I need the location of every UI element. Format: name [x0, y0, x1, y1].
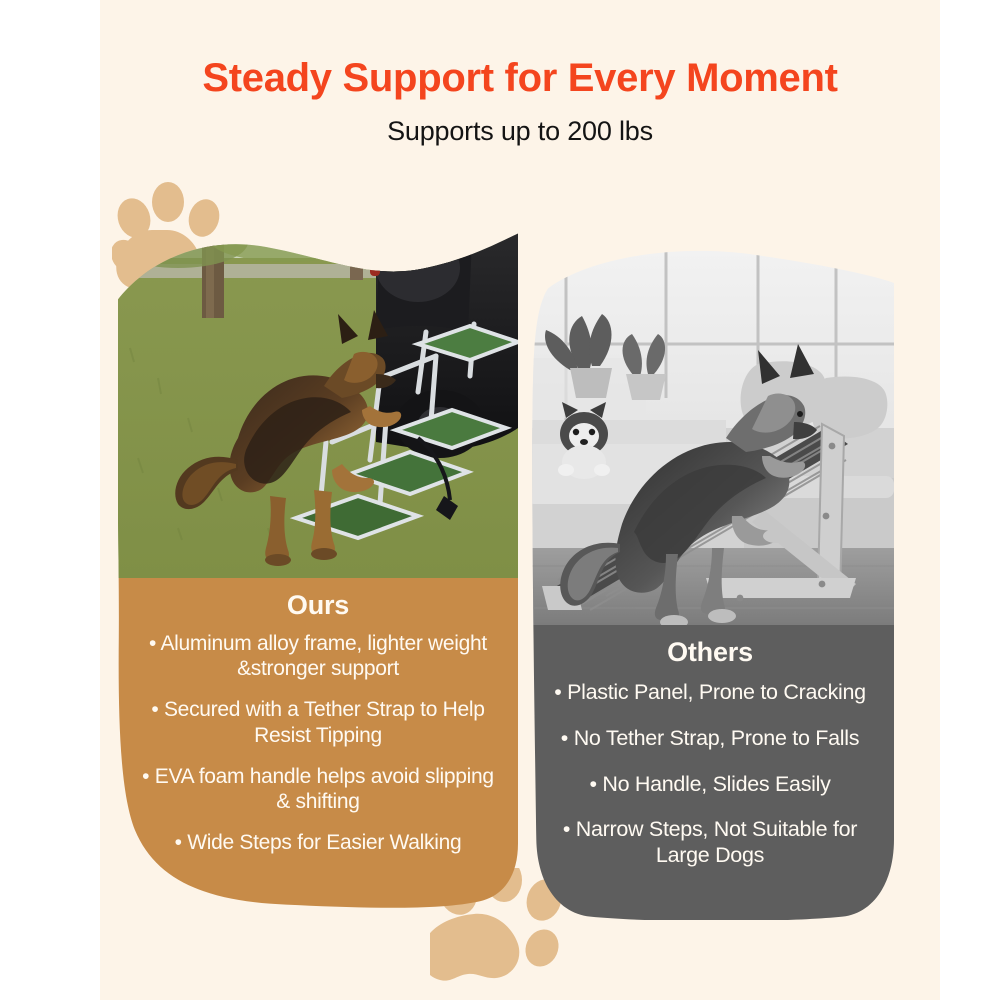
ours-bullet-list: • Aluminum alloy frame, lighter weight &…	[134, 631, 502, 855]
infographic-canvas: Steady Support for Every Moment Supports…	[0, 0, 1000, 1000]
ours-product-photo	[118, 228, 518, 578]
others-card: Others • Plastic Panel, Prone to Crackin…	[526, 248, 894, 920]
page-subtitle: Supports up to 200 lbs	[100, 116, 940, 147]
others-bullet-2: • No Tether Strap, Prone to Falls	[542, 726, 878, 752]
ours-bullet-4: • Wide Steps for Easier Walking	[134, 830, 502, 855]
ours-bullet-2: • Secured with a Tether Strap to Help Re…	[134, 697, 502, 747]
comparison-column-others: Others • Plastic Panel, Prone to Crackin…	[526, 248, 894, 920]
others-bullet-4: • Narrow Steps, Not Suitable for Large D…	[542, 817, 878, 869]
ours-bullet-1: • Aluminum alloy frame, lighter weight &…	[134, 631, 502, 681]
ours-card: Ours • Aluminum alloy frame, lighter wei…	[118, 228, 518, 908]
page-title: Steady Support for Every Moment	[100, 56, 940, 100]
ours-bullet-3: • EVA foam handle helps avoid slipping &…	[134, 764, 502, 814]
ours-heading: Ours	[134, 590, 502, 621]
ours-text-panel: Ours • Aluminum alloy frame, lighter wei…	[118, 578, 518, 908]
others-bullet-list: • Plastic Panel, Prone to Cracking • No …	[542, 680, 878, 869]
others-text-panel: Others • Plastic Panel, Prone to Crackin…	[526, 625, 894, 920]
others-heading: Others	[542, 637, 878, 668]
others-product-photo	[526, 248, 894, 625]
others-bullet-1: • Plastic Panel, Prone to Cracking	[542, 680, 878, 706]
header: Steady Support for Every Moment Supports…	[100, 0, 940, 147]
comparison-column-ours: Ours • Aluminum alloy frame, lighter wei…	[118, 228, 518, 908]
others-bullet-3: • No Handle, Slides Easily	[542, 772, 878, 798]
